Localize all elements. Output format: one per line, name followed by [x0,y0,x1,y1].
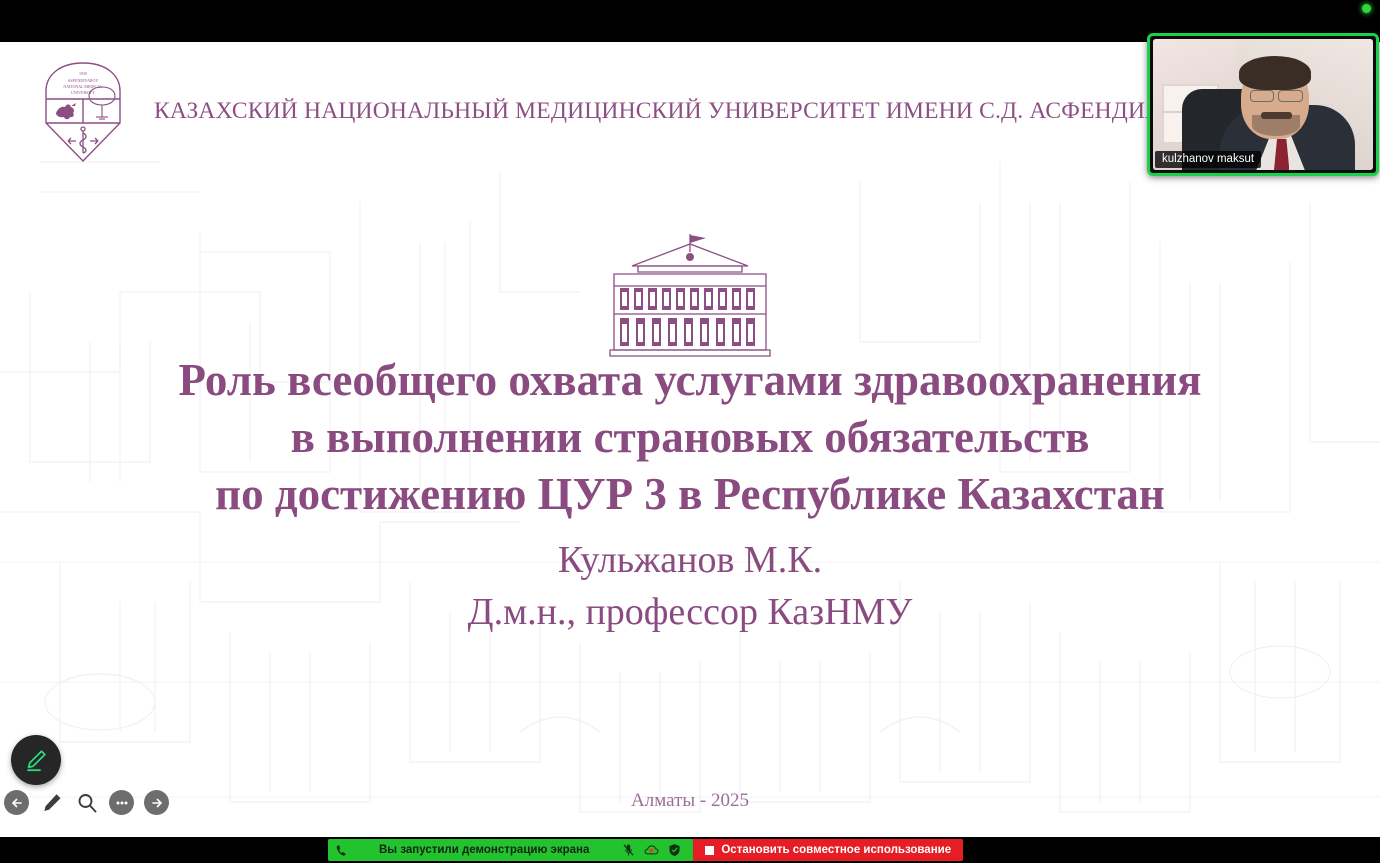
stop-square-icon [705,846,714,855]
slide-author: Кульжанов М.К. Д.м.н., профессор КазНМУ [0,534,1380,638]
title-line-2: в выполнении страновых обязательств [0,409,1380,466]
svg-text:ASFENDIYAROV: ASFENDIYAROV [68,78,99,83]
back-arrow-button[interactable] [4,790,29,815]
video-person-glasses-right [1278,90,1302,102]
microphone-muted-icon[interactable] [622,843,635,857]
author-name: Кульжанов М.К. [0,534,1380,586]
university-crest-icon: 1930 ASFENDIYAROV NATIONAL MEDICAL UNIVE… [40,61,126,163]
title-line-3: по достижению ЦУР 3 в Республике Казахст… [0,466,1380,523]
more-options-icon [114,795,130,811]
search-zoom-button[interactable] [74,790,99,815]
slide-title: Роль всеобщего охвата услугами здравоохр… [0,352,1380,523]
title-line-1: Роль всеобщего охвата услугами здравоохр… [0,352,1380,409]
screen-share-control-bar: Вы запустили демонстрацию экрана [328,839,963,861]
video-person-hair [1239,56,1312,90]
participant-video-thumbnail[interactable]: kulzhanov maksut [1147,33,1379,176]
university-building-icon [594,230,790,360]
share-status-icons [622,843,685,857]
pencil-icon [41,792,63,814]
annotation-toggle-button[interactable] [11,735,61,785]
forward-arrow-icon [149,795,165,811]
phone-handset-icon [335,844,348,857]
share-status-section: Вы запустили демонстрацию экрана [328,839,693,861]
stop-sharing-label: Остановить совместное использование [721,844,951,856]
recording-dot-icon [1362,4,1371,13]
forward-arrow-button[interactable] [144,790,169,815]
cloud-recording-icon[interactable] [644,843,659,857]
svg-text:1930: 1930 [79,71,87,76]
stop-sharing-button[interactable]: Остановить совместное использование [693,839,963,861]
more-options-button[interactable] [109,790,134,815]
share-status-text: Вы запустили демонстрацию экрана [355,844,615,856]
screen-root: 1930 ASFENDIYAROV NATIONAL MEDICAL UNIVE… [0,0,1380,863]
pencil-tool-button[interactable] [39,790,64,815]
video-person-glasses-left [1250,90,1274,102]
author-title: Д.м.н., профессор КазНМУ [0,586,1380,638]
slide-place-year: Алматы - 2025 [0,790,1380,812]
participant-name-label: kulzhanov maksut [1155,151,1261,168]
annotation-minibar [4,790,169,815]
university-name-text: КАЗАХСКИЙ НАЦИОНАЛЬНЫЙ МЕДИЦИНСКИЙ УНИВЕ… [154,100,1223,124]
pencil-edit-icon [23,747,49,773]
search-icon [76,792,98,814]
svg-text:NATIONAL MEDICAL: NATIONAL MEDICAL [63,84,103,89]
security-shield-icon[interactable] [668,843,681,857]
back-arrow-icon [9,795,25,811]
video-person-moustache [1261,112,1292,119]
